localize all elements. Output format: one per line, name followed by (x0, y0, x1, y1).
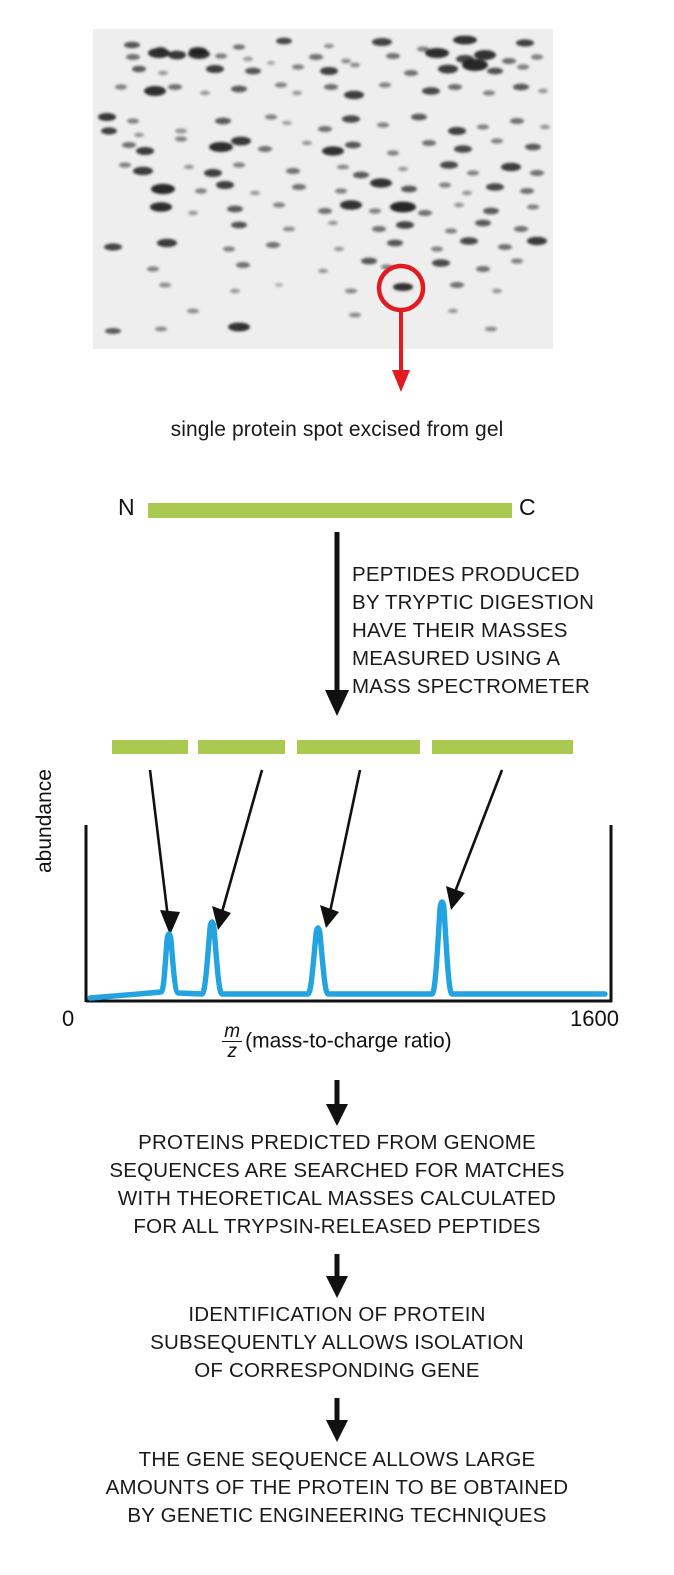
gel-canvas (93, 29, 553, 349)
step-search: PROTEINS PREDICTED FROM GENOME SEQUENCES… (0, 1129, 674, 1241)
mz-description: (mass-to-charge ratio) (245, 1030, 452, 1053)
c-terminus-label: C (519, 494, 536, 521)
digestion-arrow-head-icon (325, 690, 349, 716)
figure-root: single protein spot excised from gel N C… (0, 0, 674, 1575)
digestion-note: PEPTIDES PRODUCED BY TRYPTIC DIGESTION H… (352, 561, 594, 701)
peptide-fragment-3 (297, 740, 420, 754)
arrow-head-icon (326, 1276, 348, 1298)
step-identification-line-2: SUBSEQUENTLY ALLOWS ISOLATION (0, 1329, 674, 1357)
mz-denominator: z (222, 1041, 242, 1061)
excision-arrow-head-icon (392, 370, 410, 392)
arrow-to-search-step (0, 1078, 674, 1136)
step-identification-line-3: OF CORRESPONDING GENE (0, 1357, 674, 1385)
digestion-note-line-4: MEASURED USING A (352, 645, 594, 673)
spectrum-y-axis-label: abundance (33, 713, 61, 873)
step-search-line-2: SEQUENCES ARE SEARCHED FOR MATCHES (0, 1157, 674, 1185)
step-search-line-3: WITH THEORETICAL MASSES CALCULATED (0, 1185, 674, 1213)
two-dimensional-gel-image (93, 29, 553, 349)
full-protein-bar (148, 503, 512, 518)
arrow-to-identification-step (0, 1252, 674, 1308)
mz-numerator: m (222, 1022, 242, 1041)
step-expression: THE GENE SEQUENCE ALLOWS LARGE AMOUNTS O… (0, 1446, 674, 1530)
n-terminus-label: N (118, 494, 135, 521)
step-search-line-4: FOR ALL TRYPSIN-RELEASED PEPTIDES (0, 1213, 674, 1241)
step-expression-line-1: THE GENE SEQUENCE ALLOWS LARGE (0, 1446, 674, 1474)
spectrum-x-axis-title: m z (mass-to-charge ratio) (0, 1022, 674, 1062)
peptide-to-peak-arrowheads (160, 886, 465, 935)
peptide-fragments-row (0, 740, 674, 756)
full-protein-row: N C (0, 494, 674, 526)
gel-caption: single protein spot excised from gel (0, 418, 674, 442)
digestion-note-line-1: PEPTIDES PRODUCED (352, 561, 594, 589)
peptide-fragment-1 (112, 740, 188, 754)
arrow-head-icon (326, 1420, 348, 1442)
step-search-line-1: PROTEINS PREDICTED FROM GENOME (0, 1129, 674, 1157)
peptide-fragment-2 (198, 740, 285, 754)
digestion-note-line-5: MASS SPECTROMETER (352, 673, 594, 701)
digestion-note-line-2: BY TRYPTIC DIGESTION (352, 589, 594, 617)
arrow-head-icon (326, 1104, 348, 1126)
step-expression-line-3: BY GENETIC ENGINEERING TECHNIQUES (0, 1502, 674, 1530)
step-identification: IDENTIFICATION OF PROTEIN SUBSEQUENTLY A… (0, 1301, 674, 1385)
arrow-to-expression-step (0, 1396, 674, 1452)
step-expression-line-2: AMOUNTS OF THE PROTEIN TO BE OBTAINED (0, 1474, 674, 1502)
mz-fraction: m z (222, 1022, 242, 1062)
step-identification-line-1: IDENTIFICATION OF PROTEIN (0, 1301, 674, 1329)
peptide-fragment-4 (432, 740, 573, 754)
digestion-note-line-3: HAVE THEIR MASSES (352, 617, 594, 645)
